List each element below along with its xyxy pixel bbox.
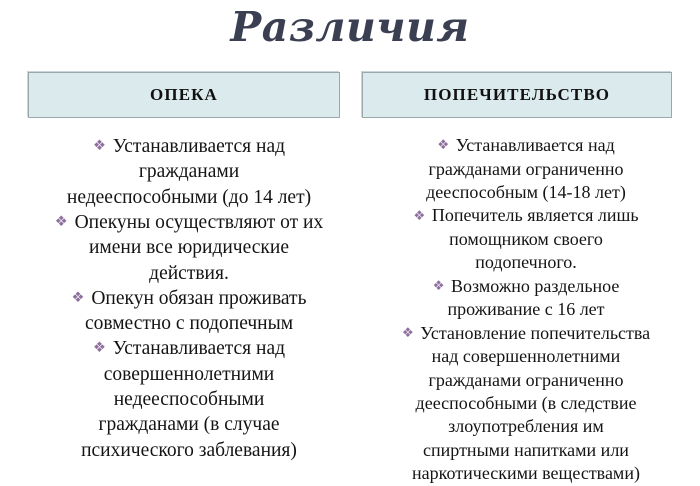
bullet-line-popechitelstvo-3: ❖ Попечитель является лишь bbox=[356, 204, 696, 228]
column-headers: ОПЕКА ПОПЕЧИТЕЛЬСТВО bbox=[0, 72, 700, 118]
column-opeka-body: ❖ Устанавливается надгражданаминедееспос… bbox=[14, 134, 364, 463]
bullet-line-text: подопечного. bbox=[475, 252, 577, 272]
bullet-line-popechitelstvo-9: над совершеннолетними bbox=[356, 345, 696, 368]
bullet-line-popechitelstvo-6: ❖ Возможно раздельное bbox=[356, 275, 696, 299]
bullet-line-text: помощником своего bbox=[449, 229, 603, 249]
diamond-bullet-icon: ❖ bbox=[433, 279, 445, 294]
bullet-line-text: Возможно раздельное bbox=[451, 276, 619, 296]
diamond-bullet-icon: ❖ bbox=[93, 138, 106, 154]
bullet-line-popechitelstvo-0: ❖ Устанавливается над bbox=[356, 134, 696, 158]
bullet-line-text: Устанавливается над bbox=[113, 338, 285, 359]
bullet-line-text: совершеннолетними bbox=[104, 364, 275, 385]
bullet-line-popechitelstvo-13: спиртными напитками или bbox=[356, 439, 696, 462]
diamond-bullet-icon: ❖ bbox=[93, 340, 106, 356]
bullet-line-popechitelstvo-4: помощником своего bbox=[356, 228, 696, 251]
bullet-line-text: совместно с подопечным bbox=[85, 313, 293, 334]
bullet-line-text: гражданами bbox=[139, 161, 239, 182]
bullet-line-opeka-5: действия. bbox=[14, 261, 364, 286]
bullet-line-opeka-0: ❖ Устанавливается над bbox=[14, 134, 364, 159]
bullet-line-text: Установление попечительства bbox=[420, 323, 650, 343]
bullet-line-text: гражданами (в случае bbox=[98, 414, 279, 435]
bullet-line-popechitelstvo-2: дееспособным (14-18 лет) bbox=[356, 181, 696, 204]
bullet-line-opeka-7: совместно с подопечным bbox=[14, 311, 364, 336]
bullet-line-popechitelstvo-1: гражданами ограниченно bbox=[356, 158, 696, 181]
bullet-line-popechitelstvo-5: подопечного. bbox=[356, 251, 696, 274]
bullet-line-popechitelstvo-8: ❖ Установление попечительства bbox=[356, 322, 696, 346]
bullet-line-opeka-3: ❖ Опекуны осуществляют от их bbox=[14, 210, 364, 235]
diamond-bullet-icon: ❖ bbox=[402, 326, 414, 341]
bullet-line-opeka-8: ❖ Устанавливается над bbox=[14, 336, 364, 361]
bullet-line-text: психического заблевания) bbox=[81, 440, 297, 461]
page-title: Различия bbox=[0, 2, 700, 52]
bullet-line-text: наркотическими веществами) bbox=[412, 463, 640, 483]
bullet-line-popechitelstvo-7: проживание с 16 лет bbox=[356, 298, 696, 321]
bullet-line-text: дееспособными (в следствие bbox=[416, 393, 637, 413]
bullet-line-text: недееспособными (до 14 лет) bbox=[67, 187, 311, 208]
bullet-line-text: Опекун обязан проживать bbox=[91, 288, 306, 309]
bullet-line-opeka-4: имени все юридические bbox=[14, 235, 364, 260]
column-header-opeka: ОПЕКА bbox=[28, 72, 340, 118]
bullet-line-text: над совершеннолетними bbox=[432, 346, 621, 366]
bullet-line-popechitelstvo-11: дееспособными (в следствие bbox=[356, 392, 696, 415]
bullet-line-text: проживание с 16 лет bbox=[447, 299, 604, 319]
comparison-columns: ❖ Устанавливается надгражданаминедееспос… bbox=[0, 134, 700, 454]
diamond-bullet-icon: ❖ bbox=[72, 290, 85, 306]
bullet-line-opeka-11: гражданами (в случае bbox=[14, 412, 364, 437]
bullet-line-text: Опекуны осуществляют от их bbox=[75, 212, 324, 233]
bullet-line-opeka-12: психического заблевания) bbox=[14, 438, 364, 463]
column-header-popechitelstvo-label: ПОПЕЧИТЕЛЬСТВО bbox=[424, 85, 610, 105]
bullet-line-opeka-6: ❖ Опекун обязан проживать bbox=[14, 286, 364, 311]
bullet-line-text: злоупотребления им bbox=[448, 416, 604, 436]
bullet-line-text: Попечитель является лишь bbox=[432, 205, 639, 225]
diamond-bullet-icon: ❖ bbox=[55, 214, 68, 230]
bullet-line-text: недееспособными bbox=[114, 389, 265, 410]
bullet-line-popechitelstvo-10: гражданами ограниченно bbox=[356, 369, 696, 392]
column-header-opeka-label: ОПЕКА bbox=[150, 85, 218, 105]
diamond-bullet-icon: ❖ bbox=[413, 209, 425, 224]
bullet-line-popechitelstvo-12: злоупотребления им bbox=[356, 415, 696, 438]
bullet-line-text: гражданами ограниченно bbox=[428, 159, 623, 179]
column-header-popechitelstvo: ПОПЕЧИТЕЛЬСТВО bbox=[362, 72, 672, 118]
bullet-line-text: гражданами ограниченно bbox=[428, 370, 623, 390]
bullet-line-text: Устанавливается над bbox=[456, 135, 615, 155]
bullet-line-text: имени все юридические bbox=[89, 237, 289, 258]
column-popechitelstvo-body: ❖ Устанавливается надгражданами ограниче… bbox=[356, 134, 696, 486]
bullet-line-text: дееспособным (14-18 лет) bbox=[426, 182, 626, 202]
bullet-line-opeka-1: гражданами bbox=[14, 159, 364, 184]
diamond-bullet-icon: ❖ bbox=[437, 138, 449, 153]
bullet-line-text: спиртными напитками или bbox=[423, 440, 629, 460]
bullet-line-text: действия. bbox=[149, 263, 229, 284]
bullet-line-opeka-2: недееспособными (до 14 лет) bbox=[14, 185, 364, 210]
bullet-line-opeka-10: недееспособными bbox=[14, 387, 364, 412]
bullet-line-text: Устанавливается над bbox=[113, 136, 285, 157]
bullet-line-opeka-9: совершеннолетними bbox=[14, 362, 364, 387]
comparison-slide: Различия ОПЕКА ПОПЕЧИТЕЛЬСТВО ❖ Устанавл… bbox=[0, 0, 700, 466]
